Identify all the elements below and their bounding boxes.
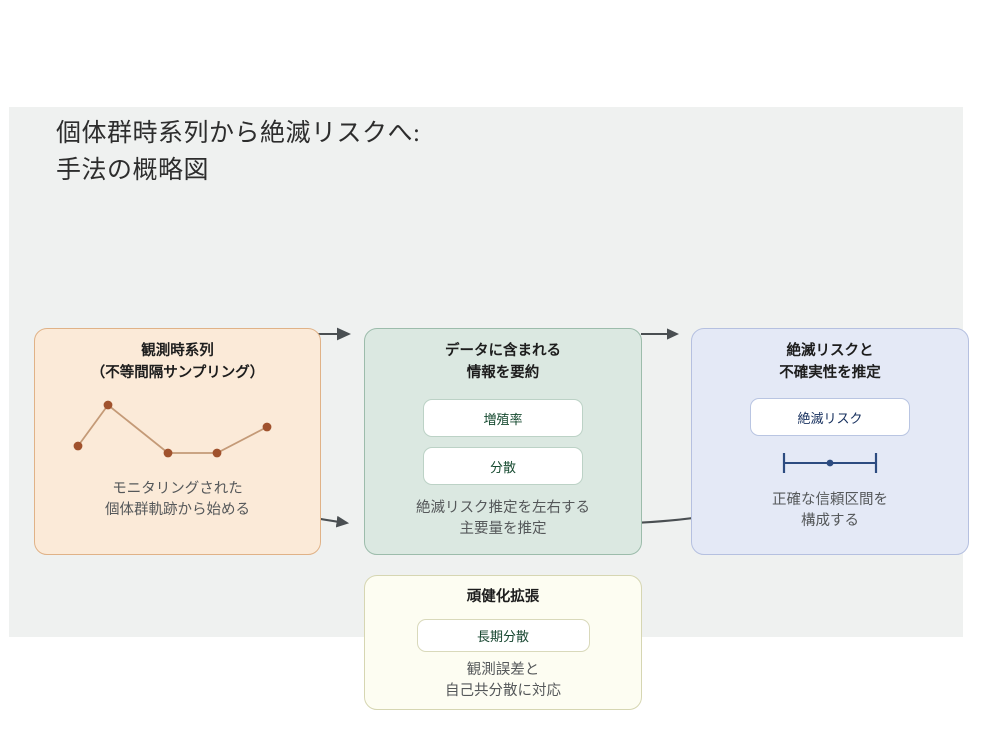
card-risk-caption: 正確な信頼区間を 構成する	[692, 490, 968, 532]
card-extinction-risk: 絶滅リスクと 不確実性を推定 絶滅リスク 正確な信頼区間を 構成する	[691, 328, 969, 555]
card-summarize-information: データに含まれる 情報を要約 増殖率 分散 絶滅リスク推定を左右する 主要量を推…	[364, 328, 642, 555]
pill-extinction-risk[interactable]: 絶滅リスク	[750, 398, 910, 436]
figure-title: 個体群時系列から絶滅リスクへ: 手法の概略図	[56, 115, 756, 189]
card-robust-extension: 頑健化拡張 長期分散 観測誤差と 自己共分散に対応	[364, 575, 642, 710]
card-robust-caption: 観測誤差と 自己共分散に対応	[365, 660, 641, 702]
card-observed-time-series: 観測時系列 （不等間隔サンプリング） モニタリングされた 個体群軌跡から始める	[34, 328, 321, 555]
population-trajectory-sparkline	[35, 390, 320, 470]
pill-long-run-variance[interactable]: 長期分散	[417, 619, 590, 652]
card-robust-title: 頑健化拡張	[365, 586, 641, 608]
card-observed-caption: モニタリングされた 個体群軌跡から始める	[35, 479, 320, 521]
pill-growth-rate[interactable]: 増殖率	[423, 399, 583, 437]
confidence-interval-errorbar	[770, 448, 890, 478]
figure-panel: 個体群時系列から絶滅リスクへ: 手法の概略図 観測時系列 （不等間隔サンプリング…	[9, 107, 963, 637]
card-summary-caption: 絶滅リスク推定を左右する 主要量を推定	[365, 498, 641, 540]
card-risk-title: 絶滅リスクと 不確実性を推定	[692, 340, 968, 384]
card-observed-title: 観測時系列 （不等間隔サンプリング）	[35, 340, 320, 384]
pill-variance[interactable]: 分散	[423, 447, 583, 485]
card-summary-title: データに含まれる 情報を要約	[365, 340, 641, 384]
